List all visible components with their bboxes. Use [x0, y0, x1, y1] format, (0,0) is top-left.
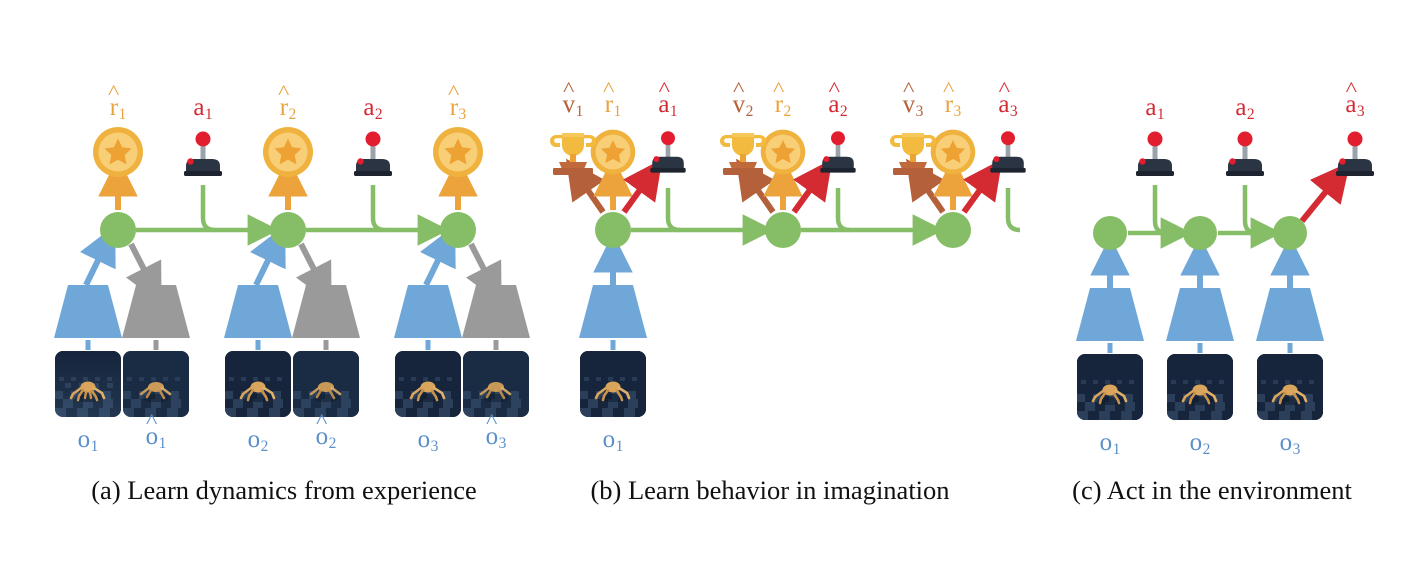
observation-subscript: 3 [431, 438, 439, 455]
value-subscript: 1 [576, 103, 584, 120]
value-label: v1 [563, 92, 584, 120]
observation-symbol: o [1190, 429, 1203, 456]
joystick-icon [1217, 128, 1273, 184]
ant-observation-image [463, 351, 529, 417]
ant-observation-image [1077, 354, 1143, 420]
encoder-stub [1288, 343, 1293, 353]
encoder-stub [611, 340, 616, 350]
observation-label: o1 [78, 427, 99, 455]
observation-subscript: 1 [91, 438, 99, 455]
action-label: a3 [1345, 92, 1364, 120]
encoder-decoder-shapes [54, 285, 1324, 341]
latent-state-node-icon [1273, 216, 1307, 250]
decoder-trapezoid [122, 285, 190, 338]
trophy-icon [546, 125, 600, 179]
reward-symbol: r [110, 95, 118, 120]
observation-symbol: o [603, 426, 616, 453]
encoder-trapezoid [54, 285, 122, 338]
observation-symbol: o [418, 426, 431, 453]
ant-observation-image [123, 351, 189, 417]
action-subscript: 3 [1357, 103, 1365, 120]
observation-label: o2 [248, 427, 269, 455]
action-subscript: 1 [670, 103, 678, 120]
action-subscript: 2 [375, 106, 383, 123]
action-symbol: a [658, 92, 669, 117]
action-symbol: a [363, 94, 374, 121]
panel-a-caption: (a) Learn dynamics from experience [91, 475, 477, 506]
joystick-icon [1127, 128, 1183, 184]
observation-label: o1 [1100, 430, 1121, 458]
value-subscript: 2 [746, 103, 754, 120]
encoder-trapezoid [1076, 288, 1144, 341]
reward-subscript: 2 [289, 106, 297, 123]
coin-star-icon [430, 124, 486, 180]
value-symbol: v [563, 92, 576, 117]
decoder-stub [324, 340, 329, 350]
observation-subscript: 2 [261, 438, 269, 455]
reward-subscript: 3 [954, 103, 962, 120]
action-label: a2 [1235, 95, 1254, 123]
decoder-trapezoid [462, 285, 530, 338]
action-subscript: 1 [205, 106, 213, 123]
reconstruction-subscript: 3 [499, 435, 507, 452]
action-symbol: a [1145, 94, 1156, 121]
ant-observation-image [225, 351, 291, 417]
action-subscript: 2 [1247, 106, 1255, 123]
reward-subscript: 2 [784, 103, 792, 120]
decoder-trapezoid [292, 285, 360, 338]
reward-subscript: 3 [459, 106, 467, 123]
action-label: a1 [1145, 95, 1164, 123]
reconstruction-symbol: o [316, 424, 329, 449]
value-label: v3 [903, 92, 924, 120]
panel-b-caption: (b) Learn behavior in imagination [590, 475, 949, 506]
latent-state-node-icon [100, 212, 136, 248]
encoder-trapezoid [1256, 288, 1324, 341]
observation-label: o3 [1280, 430, 1301, 458]
value-label: v2 [733, 92, 754, 120]
reconstruction-symbol: o [146, 424, 159, 449]
latent-state-node-icon [765, 212, 801, 248]
ant-observation-image [395, 351, 461, 417]
observation-label: o2 [1190, 430, 1211, 458]
trophy-icon [716, 125, 770, 179]
action-label: a1 [193, 95, 212, 123]
reconstruction-subscript: 2 [329, 435, 337, 452]
latent-state-node-icon [935, 212, 971, 248]
joystick-icon [982, 128, 1034, 180]
figure-canvas: r1 a1 r2 a2 r3 v1 r1 a1 v2 r2 a2 v3 r3 a… [0, 0, 1420, 562]
reconstruction-label: o2 [316, 424, 337, 452]
ant-observation-image [1167, 354, 1233, 420]
observation-symbol: o [1100, 429, 1113, 456]
reward-symbol: r [605, 92, 613, 117]
decoder-stub [494, 340, 499, 350]
coin-star-icon [90, 124, 146, 180]
decoder-stub [154, 340, 159, 350]
reconstruction-label: o1 [146, 424, 167, 452]
observation-symbol: o [78, 426, 91, 453]
encoder-stub [1198, 343, 1203, 353]
action-subscript: 1 [1157, 106, 1165, 123]
ant-observation-image [1257, 354, 1323, 420]
action-label: a2 [363, 95, 382, 123]
value-symbol: v [733, 92, 746, 117]
ant-observation-image [293, 351, 359, 417]
reward-label: r1 [110, 95, 127, 123]
action-symbol: a [193, 94, 204, 121]
encoder-trapezoid [394, 285, 462, 338]
encoder-stub [86, 340, 91, 350]
latent-state-node-icon [440, 212, 476, 248]
action-subscript: 2 [840, 103, 848, 120]
reward-symbol: r [280, 95, 288, 120]
joystick-icon [345, 128, 401, 184]
encoder-stub [426, 340, 431, 350]
coin-star-icon [260, 124, 316, 180]
joystick-icon [642, 128, 694, 180]
latent-state-node-icon [1183, 216, 1217, 250]
encoder-trapezoid [224, 285, 292, 338]
joystick-icon [1327, 128, 1383, 184]
encoder-trapezoid [1166, 288, 1234, 341]
action-symbol: a [1235, 94, 1246, 121]
encoder-stub [256, 340, 261, 350]
value-symbol: v [903, 92, 916, 117]
encoder-trapezoid [579, 285, 647, 338]
action-symbol: a [998, 92, 1009, 117]
reward-symbol: r [450, 95, 458, 120]
observation-symbol: o [248, 426, 261, 453]
reward-symbol: r [775, 92, 783, 117]
reward-subscript: 1 [119, 106, 127, 123]
latent-state-node-icon [595, 212, 631, 248]
latent-state-node-icon [1093, 216, 1127, 250]
reward-label: r2 [775, 92, 792, 120]
action-symbol: a [828, 92, 839, 117]
reward-label: r1 [605, 92, 622, 120]
ant-observation-image [55, 351, 121, 417]
observation-label: o3 [418, 427, 439, 455]
action-symbol: a [1345, 92, 1356, 117]
reconstruction-subscript: 1 [159, 435, 167, 452]
reconstruction-label: o3 [486, 424, 507, 452]
reward-label: r3 [945, 92, 962, 120]
action-label: a3 [998, 92, 1017, 120]
encoder-stub [1108, 343, 1113, 353]
joystick-icon [175, 128, 231, 184]
reward-label: r2 [280, 95, 297, 123]
joystick-icon [812, 128, 864, 180]
observation-subscript: 3 [1293, 441, 1301, 458]
observation-label: o1 [603, 427, 624, 455]
observation-subscript: 1 [616, 438, 624, 455]
trophy-icon [886, 125, 940, 179]
observation-subscript: 1 [1113, 441, 1121, 458]
reward-label: r3 [450, 95, 467, 123]
action-label: a2 [828, 92, 847, 120]
observation-symbol: o [1280, 429, 1293, 456]
reward-symbol: r [945, 92, 953, 117]
ant-observation-image [580, 351, 646, 417]
panel-c-caption: (c) Act in the environment [1072, 475, 1352, 506]
action-label: a1 [658, 92, 677, 120]
action-subscript: 3 [1010, 103, 1018, 120]
reward-subscript: 1 [614, 103, 622, 120]
reconstruction-symbol: o [486, 424, 499, 449]
latent-state-node-icon [270, 212, 306, 248]
value-subscript: 3 [916, 103, 924, 120]
observation-subscript: 2 [1203, 441, 1211, 458]
